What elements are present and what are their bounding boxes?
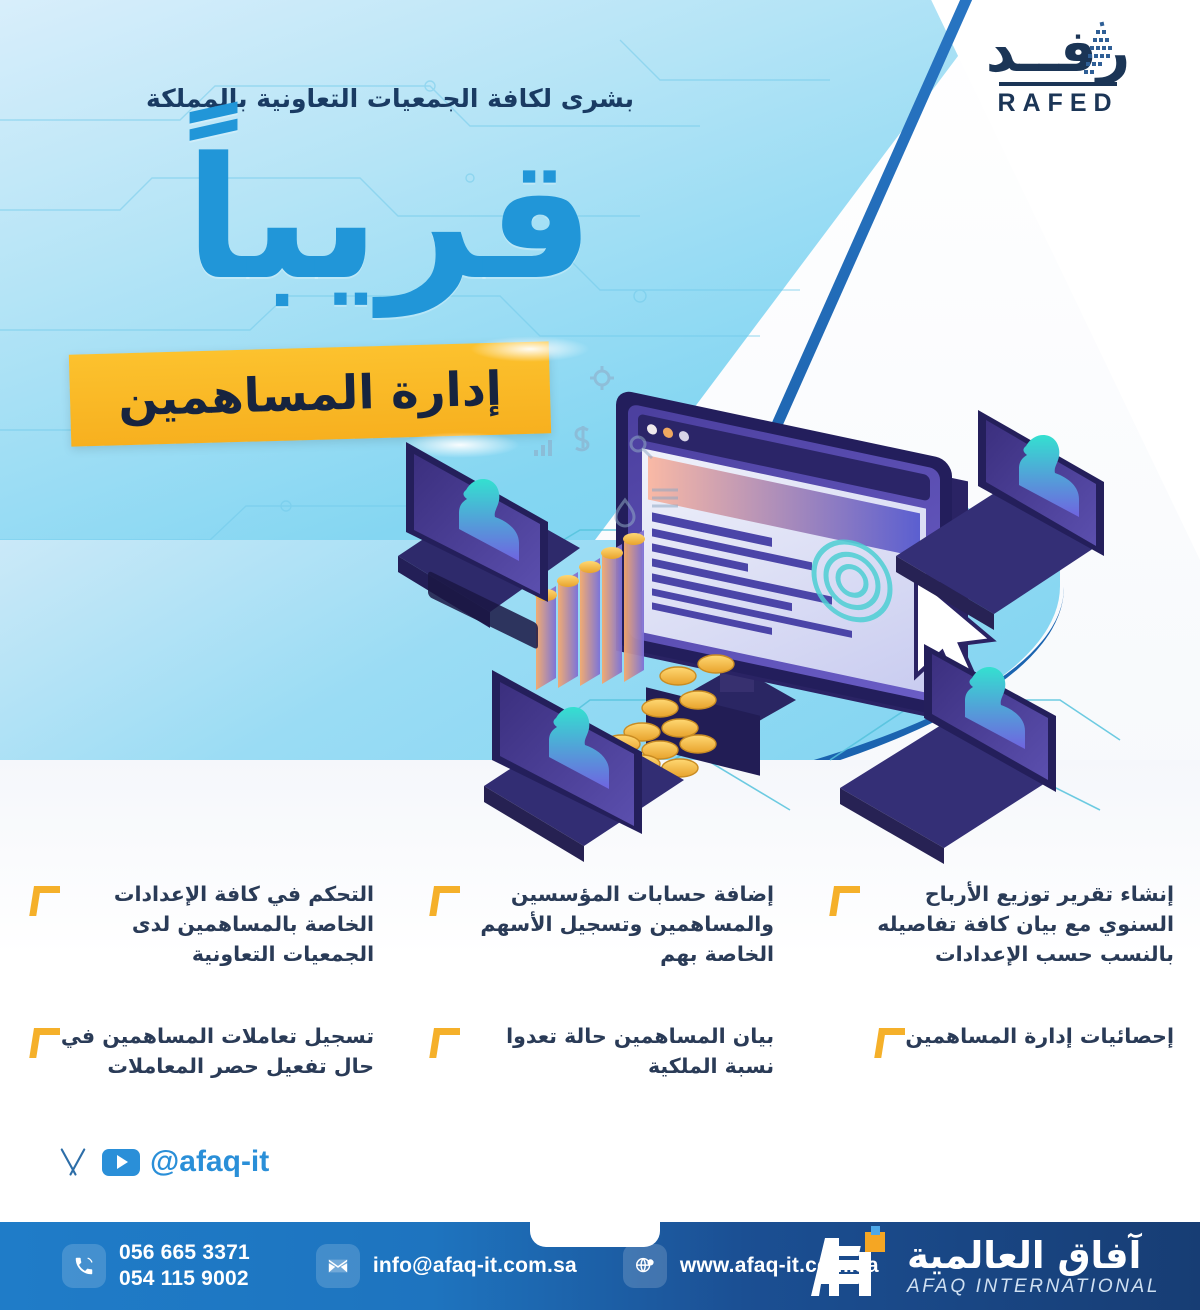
dollar-icon xyxy=(576,426,588,450)
phone-line-2: 054 115 9002 xyxy=(119,1266,250,1292)
afaq-logo-arabic: آفاق العالمية xyxy=(907,1237,1141,1274)
rafed-swoosh-icon xyxy=(1066,20,1118,86)
header-subtitle: بشرى لكافة الجمعيات التعاونية بالمملكة xyxy=(146,84,634,113)
afaq-logo-latin: AFAQ INTERNATIONAL xyxy=(907,1276,1160,1298)
corner-bracket-icon xyxy=(834,886,860,916)
features-section: إنشاء تقرير توزيع الأرباح السنوي مع بيان… xyxy=(0,880,1200,1082)
feature-text: إحصائيات إدارة المساهمين xyxy=(905,1022,1174,1082)
corner-bracket-icon xyxy=(434,886,460,916)
footer-phone[interactable]: 056 665 3371 054 115 9002 xyxy=(62,1240,250,1291)
footer-bar: 056 665 3371 054 115 9002 info@afaq-it.c… xyxy=(0,1222,1200,1310)
footer-phone-text: 056 665 3371 054 115 9002 xyxy=(119,1240,250,1291)
x-icon[interactable] xyxy=(56,1145,90,1179)
mail-icon xyxy=(316,1244,360,1288)
page-title: قريباً xyxy=(185,140,594,300)
social-bar: @afaq-it xyxy=(0,1132,1200,1192)
corner-bracket-icon xyxy=(434,1028,460,1058)
gear-icon xyxy=(590,366,614,390)
youtube-play-triangle xyxy=(117,1155,128,1169)
phone-line-1: 056 665 3371 xyxy=(119,1240,250,1266)
corner-bracket-icon xyxy=(879,1028,905,1058)
footer-email[interactable]: info@afaq-it.com.sa xyxy=(316,1244,577,1288)
rafed-logo: رفــد RAFED xyxy=(978,22,1138,140)
afaq-logo-words: آفاق العالمية AFAQ INTERNATIONAL xyxy=(907,1237,1160,1302)
features-row-2: إحصائيات إدارة المساهمين بيان المساهمين … xyxy=(0,1022,1200,1082)
poster-root: بشرى لكافة الجمعيات التعاونية بالمملكة ر… xyxy=(0,0,1200,1310)
phone-icon xyxy=(62,1244,106,1288)
globe-icon xyxy=(623,1244,667,1288)
feature-text: تسجيل تعاملات المساهمين في حال تفعيل حصر… xyxy=(60,1022,374,1082)
corner-bracket-icon xyxy=(34,886,60,916)
feature-item: إضافة حسابات المؤسسين والمساهمين وتسجيل … xyxy=(400,880,800,970)
feature-text: التحكم في كافة الإعدادات الخاصة بالمساهم… xyxy=(60,880,374,970)
feature-text: إضافة حسابات المؤسسين والمساهمين وتسجيل … xyxy=(460,880,774,970)
feature-item: تسجيل تعاملات المساهمين في حال تفعيل حصر… xyxy=(0,1022,400,1082)
feature-text: إنشاء تقرير توزيع الأرباح السنوي مع بيان… xyxy=(860,880,1174,970)
afaq-logo-mark xyxy=(803,1226,895,1302)
afaq-logo: آفاق العالمية AFAQ INTERNATIONAL xyxy=(803,1226,1160,1302)
corner-bracket-icon xyxy=(34,1028,60,1058)
features-row-1: إنشاء تقرير توزيع الأرباح السنوي مع بيان… xyxy=(0,880,1200,970)
feature-item: إنشاء تقرير توزيع الأرباح السنوي مع بيان… xyxy=(800,880,1200,970)
youtube-icon[interactable] xyxy=(102,1149,140,1176)
feature-text: بيان المساهمين حالة تعدوا نسبة الملكية xyxy=(460,1022,774,1082)
feature-item: التحكم في كافة الإعدادات الخاصة بالمساهم… xyxy=(0,880,400,970)
feature-item: بيان المساهمين حالة تعدوا نسبة الملكية xyxy=(400,1022,800,1082)
signal-icon xyxy=(536,440,550,456)
isometric-illustration xyxy=(360,340,1160,880)
feature-item: إحصائيات إدارة المساهمين xyxy=(800,1022,1200,1082)
footer-notch xyxy=(530,1221,660,1247)
footer-email-text: info@afaq-it.com.sa xyxy=(373,1253,577,1279)
social-icon-group xyxy=(56,1145,140,1179)
social-handle[interactable]: @afaq-it xyxy=(150,1145,269,1179)
rafed-logo-latin: RAFED xyxy=(978,89,1138,118)
